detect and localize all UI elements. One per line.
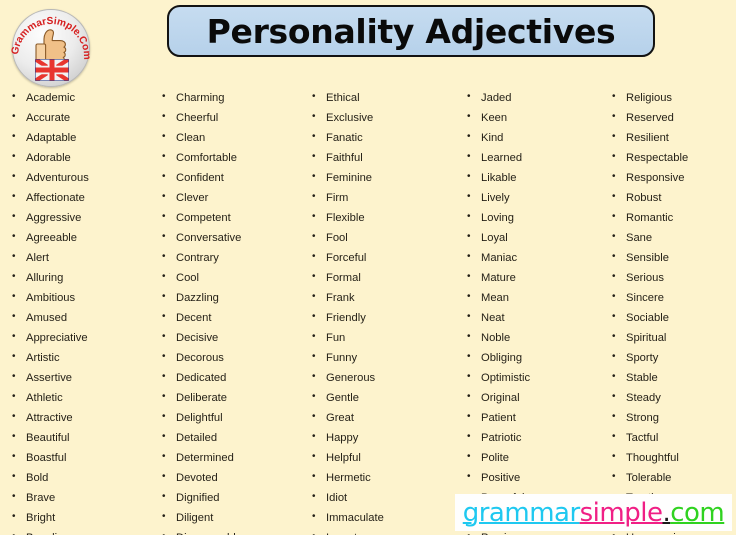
list-item: Contrary <box>158 248 308 268</box>
list-item: Thoughtful <box>608 448 736 468</box>
list-item: Generous <box>308 368 463 388</box>
list-item: Dazzling <box>158 288 308 308</box>
list-item: Respectable <box>608 148 736 168</box>
list-item: Beautiful <box>8 428 158 448</box>
list-item: Maniac <box>463 248 613 268</box>
list-item: Delightful <box>158 408 308 428</box>
list-item: Diligent <box>158 508 308 528</box>
list-item: Learned <box>463 148 613 168</box>
word-list-2: CharmingCheerfulCleanComfortableConfiden… <box>158 88 308 535</box>
watermark-part-simple: simple <box>580 498 663 528</box>
word-list-5: ReligiousReservedResilientRespectableRes… <box>608 88 736 535</box>
list-item: Lively <box>463 188 613 208</box>
list-item: Serious <box>608 268 736 288</box>
list-item: Sincere <box>608 288 736 308</box>
watermark-part-com: com <box>670 498 724 528</box>
list-item: Friendly <box>308 308 463 328</box>
column-3: EthicalExclusiveFanaticFaithfulFeminineF… <box>308 88 463 535</box>
list-item: Academic <box>8 88 158 108</box>
list-item: Affectionate <box>8 188 158 208</box>
grammarsimple-watermark: grammarsimple.com <box>455 494 732 531</box>
list-item: Cheerful <box>158 108 308 128</box>
list-item: Optimistic <box>463 368 613 388</box>
list-item: Amused <box>8 308 158 328</box>
column-5: ReligiousReservedResilientRespectableRes… <box>608 88 736 535</box>
uk-flag-icon <box>35 59 69 81</box>
list-item: Athletic <box>8 388 158 408</box>
list-item: Forceful <box>308 248 463 268</box>
list-item: Romantic <box>608 208 736 228</box>
list-item: Obliging <box>463 348 613 368</box>
list-item: Decent <box>158 308 308 328</box>
word-list-4: JadedKeenKindLearnedLikableLivelyLovingL… <box>463 88 613 535</box>
list-item: Flexible <box>308 208 463 228</box>
list-item: Adaptable <box>8 128 158 148</box>
page-title: Personality Adjectives <box>207 12 616 51</box>
list-item: Kind <box>463 128 613 148</box>
list-item: Feminine <box>308 168 463 188</box>
list-item: Deliberate <box>158 388 308 408</box>
list-item: Tactful <box>608 428 736 448</box>
column-4: JadedKeenKindLearnedLikableLivelyLovingL… <box>463 88 613 535</box>
list-item: Adorable <box>8 148 158 168</box>
word-list-3: EthicalExclusiveFanaticFaithfulFeminineF… <box>308 88 463 535</box>
list-item: Bungling <box>8 528 158 535</box>
list-item: Noble <box>463 328 613 348</box>
list-item: Tolerable <box>608 468 736 488</box>
list-item: Devoted <box>158 468 308 488</box>
list-item: Original <box>463 388 613 408</box>
list-item: Alert <box>8 248 158 268</box>
list-item: Gentle <box>308 388 463 408</box>
list-item: Robust <box>608 188 736 208</box>
list-item: Decorous <box>158 348 308 368</box>
list-item: Assertive <box>8 368 158 388</box>
column-2: CharmingCheerfulCleanComfortableConfiden… <box>158 88 308 535</box>
list-item: Bold <box>8 468 158 488</box>
list-item: Fanatic <box>308 128 463 148</box>
list-item: Patriotic <box>463 428 613 448</box>
list-item: Faithful <box>308 148 463 168</box>
list-item: Religious <box>608 88 736 108</box>
list-item: Spiritual <box>608 328 736 348</box>
list-item: Sporty <box>608 348 736 368</box>
watermark-part-grammar: grammar <box>463 498 580 528</box>
list-item: Confident <box>158 168 308 188</box>
list-item: Fool <box>308 228 463 248</box>
list-item: Steady <box>608 388 736 408</box>
list-item: Cool <box>158 268 308 288</box>
list-item: Accurate <box>8 108 158 128</box>
list-item: Adventurous <box>8 168 158 188</box>
list-item: Clean <box>158 128 308 148</box>
list-item: Idiot <box>308 488 463 508</box>
list-item: Aggressive <box>8 208 158 228</box>
list-item: Decisive <box>158 328 308 348</box>
list-item: Determined <box>158 448 308 468</box>
list-item: Jaded <box>463 88 613 108</box>
list-item: Loyal <box>463 228 613 248</box>
list-item: Disagreeable <box>158 528 308 535</box>
list-item: Appreciative <box>8 328 158 348</box>
list-item: Strong <box>608 408 736 428</box>
list-item: Competent <box>158 208 308 228</box>
list-item: Dignified <box>158 488 308 508</box>
thumbs-up-icon <box>36 30 66 62</box>
list-item: Bright <box>8 508 158 528</box>
list-item: Dedicated <box>158 368 308 388</box>
list-item: Charming <box>158 88 308 108</box>
list-item: Polite <box>463 448 613 468</box>
list-item: Loving <box>463 208 613 228</box>
list-item: Attractive <box>8 408 158 428</box>
column-1: AcademicAccurateAdaptableAdorableAdventu… <box>8 88 158 535</box>
list-item: Hermetic <box>308 468 463 488</box>
list-item: Clever <box>158 188 308 208</box>
list-item: Patient <box>463 408 613 428</box>
list-item: Alluring <box>8 268 158 288</box>
list-item: Funny <box>308 348 463 368</box>
list-item: Great <box>308 408 463 428</box>
list-item: Mature <box>463 268 613 288</box>
list-item: Agreeable <box>8 228 158 248</box>
list-item: Conversative <box>158 228 308 248</box>
list-item: Resilient <box>608 128 736 148</box>
list-item: Reserved <box>608 108 736 128</box>
list-item: Ambitious <box>8 288 158 308</box>
list-item: Artistic <box>8 348 158 368</box>
list-item: Fun <box>308 328 463 348</box>
watermark-text: grammarsimple.com <box>463 498 725 528</box>
page-title-box: Personality Adjectives <box>167 5 655 57</box>
list-item: Sociable <box>608 308 736 328</box>
list-item: Stable <box>608 368 736 388</box>
list-item: Happy <box>308 428 463 448</box>
list-item: Firm <box>308 188 463 208</box>
list-item: Mean <box>463 288 613 308</box>
list-item: Responsive <box>608 168 736 188</box>
list-item: Sane <box>608 228 736 248</box>
grammarsimple-logo-badge: GrammarSimple.Com <box>8 6 98 88</box>
logo-artwork: GrammarSimple.Com <box>8 6 98 88</box>
list-item: Exclusive <box>308 108 463 128</box>
list-item: Positive <box>463 468 613 488</box>
list-item: Sensible <box>608 248 736 268</box>
list-item: Ethical <box>308 88 463 108</box>
list-item: Formal <box>308 268 463 288</box>
list-item: Immaculate <box>308 508 463 528</box>
list-item: Boastful <box>8 448 158 468</box>
list-item: Helpful <box>308 448 463 468</box>
list-item: Immature <box>308 528 463 535</box>
list-item: Frank <box>308 288 463 308</box>
list-item: Detailed <box>158 428 308 448</box>
list-item: Neat <box>463 308 613 328</box>
list-item: Brave <box>8 488 158 508</box>
list-item: Comfortable <box>158 148 308 168</box>
word-list-1: AcademicAccurateAdaptableAdorableAdventu… <box>8 88 158 535</box>
list-item: Keen <box>463 108 613 128</box>
list-item: Likable <box>463 168 613 188</box>
